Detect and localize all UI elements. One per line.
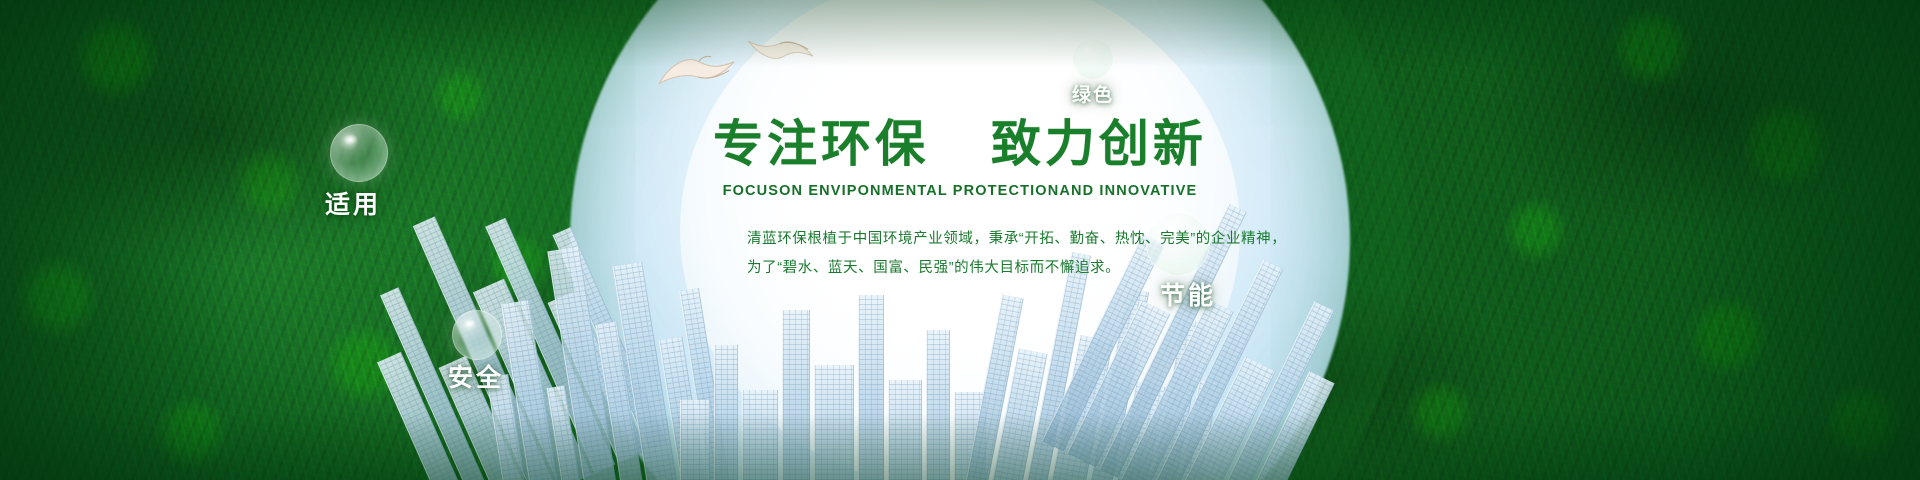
description-line-2: 为了“碧水、蓝天、国富、民强”的伟大目标而不懈追求。 [747, 254, 1175, 284]
headline-part-2: 致力创新 [991, 116, 1207, 172]
bubble-anquan-orb [452, 310, 502, 360]
eco-hero-banner: 适用 安全 绿色 节能 专注环保 致力创新 FOCUSON ENVIPONMEN… [0, 0, 1920, 480]
bubble-lvse-orb [1072, 38, 1114, 80]
banner-description: 清蓝环保根植于中国环境产业领域，秉承“开拓、勤奋、热忱、完美”的企业精神， 为了… [745, 225, 1175, 284]
bubble-lvse-label: 绿色 [1072, 80, 1114, 107]
bubble-anquan-label: 安全 [448, 358, 504, 394]
page-subtitle: FOCUSON ENVIPONMENTAL PROTECTIONAND INNO… [0, 183, 1920, 199]
banner-text-block: 专注环保 致力创新 FOCUSON ENVIPONMENTAL PROTECTI… [0, 118, 1920, 284]
description-line-1: 清蓝环保根植于中国环境产业领域，秉承“开拓、勤奋、热忱、完美”的企业精神， [747, 225, 1175, 255]
bird-icon-right [742, 27, 818, 74]
headline-part-1: 专注环保 [713, 116, 929, 172]
page-title: 专注环保 致力创新 [0, 118, 1920, 171]
